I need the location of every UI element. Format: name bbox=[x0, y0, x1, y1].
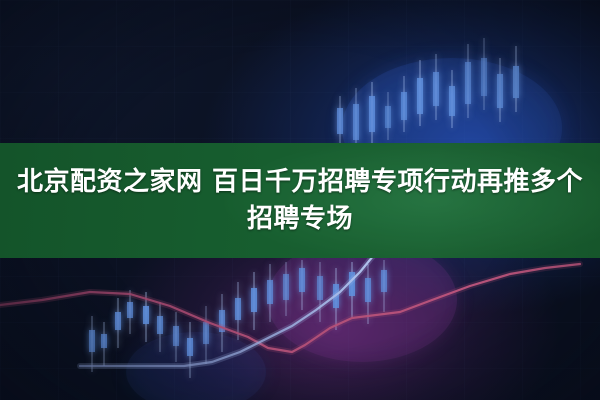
headline-text: 北京配资之家网 百日千万招聘专项行动再推多个 招聘专场 bbox=[0, 143, 600, 258]
headline-line-1: 北京配资之家网 百日千万招聘专项行动再推多个 bbox=[17, 167, 583, 198]
promo-banner: 北京配资之家网 百日千万招聘专项行动再推多个 招聘专场 bbox=[0, 0, 600, 400]
headline-line-2: 招聘专场 bbox=[247, 204, 353, 235]
